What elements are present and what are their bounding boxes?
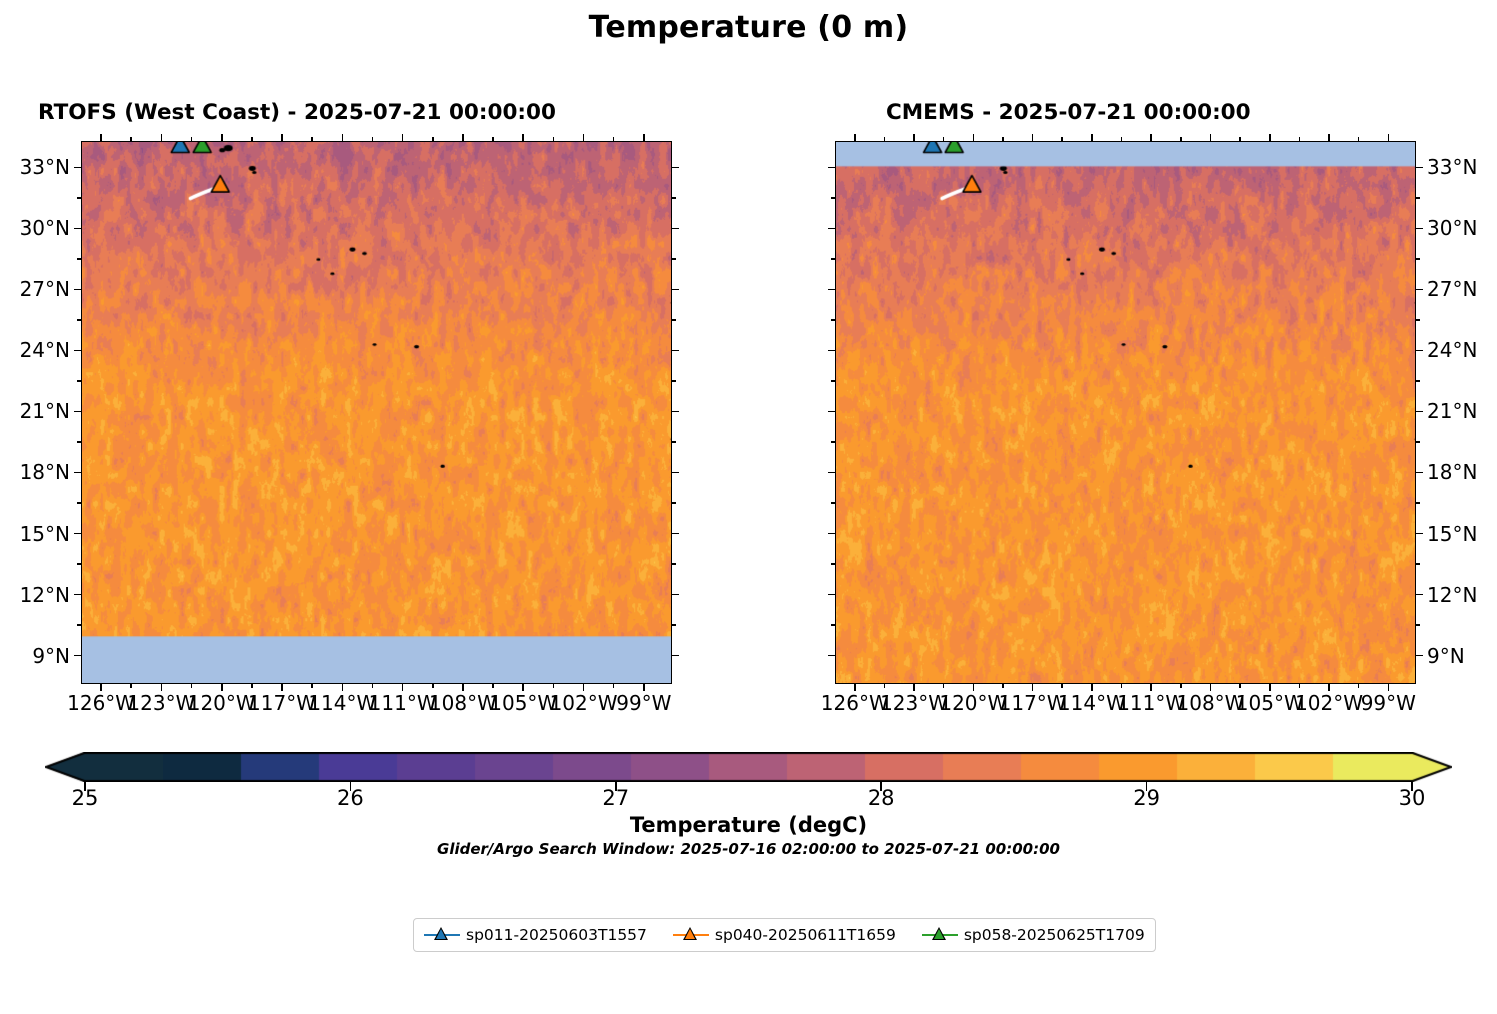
y-tick-minor-right: [1416, 441, 1420, 443]
y-tick-minor-left: [831, 380, 835, 382]
glider-legend[interactable]: sp011-20250603T1557sp040-20250611T1659sp…: [413, 918, 1156, 952]
y-tick-major-left: [828, 411, 835, 413]
y-tick-major-left: [74, 350, 81, 352]
x-axis-label-right: 105°W: [1236, 691, 1304, 715]
x-tick-minor: [1239, 684, 1241, 688]
x-tick-minor: [372, 684, 374, 688]
x-axis-label-left: 102°W: [550, 691, 618, 715]
x-tick-major: [281, 684, 283, 691]
y-tick-major-right: [672, 655, 679, 657]
x-tick-major: [1269, 684, 1271, 691]
x-axis-label-right: 117°W: [999, 691, 1067, 715]
y-tick-major-left: [74, 594, 81, 596]
y-axis-label: 18°N: [1427, 460, 1477, 484]
x-axis-label-left: 123°W: [127, 691, 195, 715]
y-tick-minor-left: [831, 319, 835, 321]
y-tick-major-left: [828, 655, 835, 657]
x-tick-minor-top: [553, 137, 555, 141]
y-tick-major-left: [828, 594, 835, 596]
panel-title-cmems: CMEMS - 2025-07-21 00:00:00: [886, 100, 1251, 125]
x-tick-major-top: [342, 134, 344, 141]
y-axis-label: 15°N: [0, 522, 70, 546]
x-tick-major: [1210, 684, 1212, 691]
x-axis-label-left: 99°W: [616, 691, 671, 715]
x-axis-label-right: 102°W: [1295, 691, 1363, 715]
y-tick-major-right: [672, 533, 679, 535]
x-tick-major: [1150, 684, 1152, 691]
y-tick-major-right: [1416, 655, 1423, 657]
colorbar-tick-label: 28: [868, 786, 895, 810]
x-tick-minor: [191, 684, 193, 688]
y-tick-major-right: [1416, 533, 1423, 535]
y-axis-label: 30°N: [0, 216, 70, 240]
x-axis-label-right: 126°W: [821, 691, 889, 715]
y-tick-minor-left: [831, 258, 835, 260]
x-tick-minor-top: [1239, 137, 1241, 141]
y-tick-major-right: [672, 472, 679, 474]
x-axis-label-right: 120°W: [939, 691, 1007, 715]
x-axis-label-right: 108°W: [1176, 691, 1244, 715]
y-tick-major-left: [828, 289, 835, 291]
x-tick-minor-top: [251, 137, 253, 141]
x-tick-minor: [1299, 684, 1301, 688]
x-tick-major: [643, 684, 645, 691]
x-tick-minor: [943, 684, 945, 688]
x-tick-minor-top: [1299, 137, 1301, 141]
x-tick-major: [583, 684, 585, 691]
x-tick-minor-top: [432, 137, 434, 141]
x-tick-minor-top: [191, 137, 193, 141]
x-tick-minor: [1061, 684, 1063, 688]
y-tick-major-left: [74, 167, 81, 169]
y-tick-minor-right: [672, 258, 676, 260]
panel-title-rtofs: RTOFS (West Coast) - 2025-07-21 00:00:00: [38, 100, 556, 125]
y-tick-minor-left: [77, 624, 81, 626]
y-tick-minor-left: [77, 441, 81, 443]
y-tick-major-right: [1416, 289, 1423, 291]
x-tick-minor: [1358, 684, 1360, 688]
y-tick-major-left: [74, 228, 81, 230]
x-axis-label-left: 114°W: [308, 691, 376, 715]
figure-title: Temperature (0 m): [0, 10, 1497, 45]
colorbar[interactable]: [45, 752, 1452, 782]
y-tick-major-right: [672, 594, 679, 596]
y-axis-label: 27°N: [0, 277, 70, 301]
y-tick-major-right: [672, 289, 679, 291]
x-tick-major-top: [1328, 134, 1330, 141]
y-tick-major-left: [74, 472, 81, 474]
x-tick-minor: [492, 684, 494, 688]
y-axis-label: 21°N: [1427, 399, 1477, 423]
x-axis-label-left: 108°W: [429, 691, 497, 715]
y-tick-major-right: [1416, 350, 1423, 352]
x-tick-minor: [884, 684, 886, 688]
y-tick-major-right: [672, 228, 679, 230]
x-tick-minor: [311, 684, 313, 688]
y-tick-major-right: [1416, 472, 1423, 474]
y-tick-major-right: [672, 411, 679, 413]
y-tick-major-right: [1416, 411, 1423, 413]
x-tick-major: [522, 684, 524, 691]
map-panel-cmems[interactable]: [835, 141, 1416, 684]
y-tick-minor-right: [1416, 502, 1420, 504]
x-tick-major-top: [1150, 134, 1152, 141]
y-tick-minor-left: [77, 258, 81, 260]
y-axis-label: 15°N: [1427, 522, 1477, 546]
x-tick-major-top: [1032, 134, 1034, 141]
y-tick-minor-left: [831, 624, 835, 626]
y-axis-label: 18°N: [0, 460, 70, 484]
x-tick-major-top: [913, 134, 915, 141]
y-tick-major-left: [828, 472, 835, 474]
x-axis-label-left: 117°W: [248, 691, 316, 715]
x-tick-major: [100, 684, 102, 691]
x-tick-minor-top: [311, 137, 313, 141]
y-tick-minor-right: [1416, 563, 1420, 565]
y-tick-major-left: [828, 228, 835, 230]
y-tick-minor-right: [1416, 624, 1420, 626]
x-tick-minor: [1121, 684, 1123, 688]
y-tick-minor-right: [672, 197, 676, 199]
y-tick-major-left: [74, 411, 81, 413]
y-tick-major-left: [828, 167, 835, 169]
x-tick-minor: [1180, 684, 1182, 688]
search-window-note: Glider/Argo Search Window: 2025-07-16 02…: [0, 840, 1497, 858]
x-axis-label-left: 126°W: [67, 691, 135, 715]
x-tick-major-top: [221, 134, 223, 141]
x-tick-major: [402, 684, 404, 691]
y-tick-minor-left: [831, 502, 835, 504]
x-tick-minor-top: [1121, 137, 1123, 141]
y-tick-minor-right: [672, 319, 676, 321]
x-tick-major: [221, 684, 223, 691]
legend-item[interactable]: sp040-20250611T1659: [673, 926, 896, 944]
y-tick-major-left: [828, 533, 835, 535]
y-tick-major-left: [828, 350, 835, 352]
colorbar-tick-label: 29: [1133, 786, 1160, 810]
y-axis-label: 21°N: [0, 399, 70, 423]
x-axis-label-left: 105°W: [489, 691, 557, 715]
map-panel-rtofs[interactable]: [81, 141, 672, 684]
x-axis-label-left: 120°W: [188, 691, 256, 715]
triangle-up-icon: [685, 929, 695, 939]
y-tick-minor-left: [77, 380, 81, 382]
x-tick-minor: [1002, 684, 1004, 688]
y-tick-minor-left: [831, 563, 835, 565]
x-tick-minor: [251, 684, 253, 688]
colorbar-tick-label: 25: [72, 786, 99, 810]
y-tick-minor-left: [831, 441, 835, 443]
x-tick-major-top: [1210, 134, 1212, 141]
y-axis-label: 33°N: [1427, 155, 1477, 179]
y-tick-minor-right: [672, 380, 676, 382]
map-raster-cmems: [836, 142, 1415, 683]
x-tick-major: [1091, 684, 1093, 691]
x-tick-major-top: [462, 134, 464, 141]
y-axis-label: 12°N: [0, 583, 70, 607]
y-tick-minor-left: [77, 502, 81, 504]
x-tick-minor-top: [1061, 137, 1063, 141]
triangle-up-icon: [436, 929, 446, 939]
y-tick-major-right: [672, 350, 679, 352]
legend-marker-2: [922, 926, 958, 944]
y-axis-label: 33°N: [0, 155, 70, 179]
y-tick-major-right: [672, 167, 679, 169]
x-tick-minor-top: [884, 137, 886, 141]
y-tick-minor-right: [1416, 258, 1420, 260]
legend-item[interactable]: sp058-20250625T1709: [922, 926, 1145, 944]
x-tick-minor-top: [613, 137, 615, 141]
x-tick-minor-top: [1358, 137, 1360, 141]
x-axis-label-right: 111°W: [1117, 691, 1185, 715]
y-axis-label: 9°N: [0, 644, 70, 668]
x-tick-major: [1032, 684, 1034, 691]
x-tick-major: [1388, 684, 1390, 691]
y-tick-minor-left: [831, 197, 835, 199]
x-tick-major: [462, 684, 464, 691]
x-tick-minor-top: [372, 137, 374, 141]
x-tick-minor-top: [130, 137, 132, 141]
legend-marker-0: [424, 926, 460, 944]
x-tick-minor-top: [492, 137, 494, 141]
x-tick-major: [1328, 684, 1330, 691]
x-tick-major-top: [402, 134, 404, 141]
x-tick-major-top: [854, 134, 856, 141]
x-tick-minor-top: [1002, 137, 1004, 141]
y-tick-major-right: [1416, 228, 1423, 230]
y-tick-minor-left: [77, 197, 81, 199]
colorbar-tick-label: 27: [602, 786, 629, 810]
legend-label: sp058-20250625T1709: [964, 926, 1145, 944]
x-tick-major: [854, 684, 856, 691]
y-tick-major-left: [74, 655, 81, 657]
x-tick-major: [161, 684, 163, 691]
legend-label: sp040-20250611T1659: [715, 926, 896, 944]
y-tick-minor-right: [1416, 319, 1420, 321]
colorbar-gradient: [45, 752, 1452, 782]
y-tick-major-left: [74, 289, 81, 291]
x-tick-major-top: [1091, 134, 1093, 141]
x-tick-minor: [130, 684, 132, 688]
y-axis-label: 24°N: [0, 338, 70, 362]
triangle-up-icon: [934, 929, 944, 939]
legend-marker-1: [673, 926, 709, 944]
y-tick-minor-right: [1416, 380, 1420, 382]
colorbar-tick-label: 26: [337, 786, 364, 810]
y-tick-minor-right: [672, 502, 676, 504]
figure-canvas: Temperature (0 m) RTOFS (West Coast) - 2…: [0, 0, 1497, 1014]
x-tick-major-top: [1388, 134, 1390, 141]
x-tick-major: [973, 684, 975, 691]
x-tick-minor: [613, 684, 615, 688]
x-tick-major-top: [643, 134, 645, 141]
y-tick-minor-right: [672, 624, 676, 626]
x-tick-minor: [432, 684, 434, 688]
y-tick-major-left: [74, 533, 81, 535]
y-axis-label: 12°N: [1427, 583, 1477, 607]
y-tick-minor-left: [77, 319, 81, 321]
x-tick-minor-top: [943, 137, 945, 141]
x-tick-major-top: [161, 134, 163, 141]
colorbar-title: Temperature (degC): [0, 813, 1497, 837]
x-tick-major-top: [522, 134, 524, 141]
x-tick-minor: [553, 684, 555, 688]
y-tick-minor-right: [672, 563, 676, 565]
x-tick-major-top: [281, 134, 283, 141]
y-tick-minor-left: [77, 563, 81, 565]
x-axis-label-right: 99°W: [1361, 691, 1416, 715]
x-axis-label-right: 123°W: [880, 691, 948, 715]
x-tick-minor-top: [1180, 137, 1182, 141]
x-tick-major: [913, 684, 915, 691]
x-tick-major-top: [1269, 134, 1271, 141]
x-tick-major-top: [973, 134, 975, 141]
y-tick-minor-right: [672, 441, 676, 443]
y-axis-label: 30°N: [1427, 216, 1477, 240]
x-axis-label-right: 114°W: [1058, 691, 1126, 715]
legend-item[interactable]: sp011-20250603T1557: [424, 926, 647, 944]
y-tick-major-right: [1416, 594, 1423, 596]
x-tick-major-top: [583, 134, 585, 141]
legend-label: sp011-20250603T1557: [466, 926, 647, 944]
colorbar-tick-label: 30: [1399, 786, 1426, 810]
map-raster-rtofs: [82, 142, 671, 683]
x-tick-major-top: [100, 134, 102, 141]
x-axis-label-left: 111°W: [369, 691, 437, 715]
y-tick-minor-right: [1416, 197, 1420, 199]
y-axis-label: 24°N: [1427, 338, 1477, 362]
y-axis-label: 27°N: [1427, 277, 1477, 301]
x-tick-major: [342, 684, 344, 691]
y-tick-major-right: [1416, 167, 1423, 169]
y-axis-label: 9°N: [1427, 644, 1465, 668]
